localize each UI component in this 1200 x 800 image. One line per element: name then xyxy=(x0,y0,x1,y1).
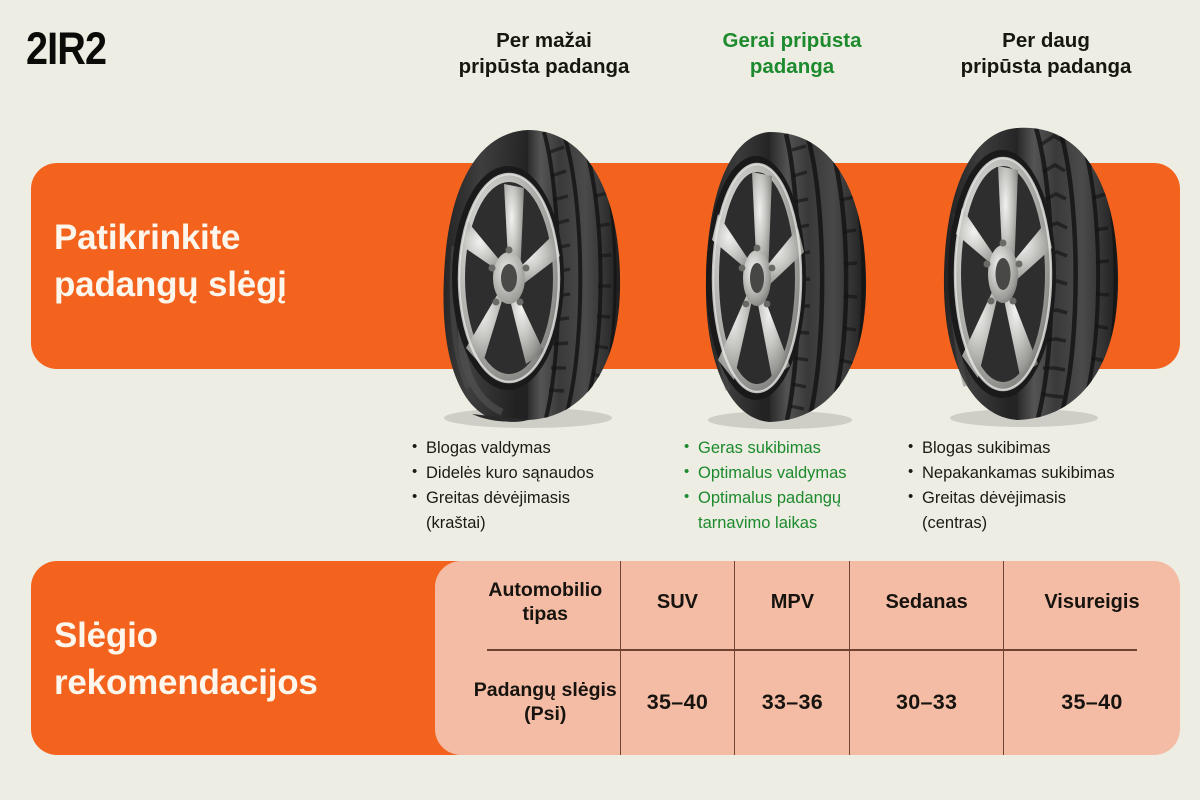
table-header-mpv: MPV xyxy=(735,561,850,649)
list-item: Blogas valdymas xyxy=(412,436,684,461)
list-item: Nepakankamas sukibimas xyxy=(908,461,1200,486)
bullet-list-over-inflated: Blogas sukibimas Nepakankamas sukibimas … xyxy=(908,436,1200,536)
table-value-sedanas: 30–33 xyxy=(850,649,1004,755)
header-line-1: Gerai pripūsta xyxy=(680,28,904,54)
table-header-visureigis: Visureigis xyxy=(1003,561,1180,649)
pressure-table: Automobilio tipas SUV MPV Sedanas Visure… xyxy=(435,561,1180,755)
header-line-1: Per daug xyxy=(904,28,1188,54)
table-row-header: Automobilio tipas SUV MPV Sedanas Visure… xyxy=(435,561,1180,649)
table-header-suv: SUV xyxy=(620,561,735,649)
list-item: Optimalus valdymas xyxy=(684,461,908,486)
column-headers: Per mažai pripūsta padanga Gerai pripūst… xyxy=(408,28,1188,80)
bullet-list-correctly-inflated: Geras sukibimas Optimalus valdymas Optim… xyxy=(684,436,908,536)
list-item: Greitas dėvėjimasis xyxy=(412,486,684,511)
tire-over-inflated-image xyxy=(932,122,1128,428)
table-row-label-tire-pressure: Padangų slėgis (Psi) xyxy=(435,649,620,755)
bullet-list-under-inflated: Blogas valdymas Didelės kuro sąnaudos Gr… xyxy=(412,436,684,536)
header-line-2: pripūsta padanga xyxy=(904,54,1188,80)
header-line-2: pripūsta padanga xyxy=(408,54,680,80)
list-item-continuation: (kraštai) xyxy=(412,511,684,536)
banner-title-line-2: rekomendacijos xyxy=(54,660,424,707)
list-item: Blogas sukibimas xyxy=(908,436,1200,461)
tire-under-inflated-image xyxy=(432,126,628,428)
list-item: Geras sukibimas xyxy=(684,436,908,461)
list-item-continuation: (centras) xyxy=(908,511,1200,536)
banner-title-line-2: padangų slėgį xyxy=(54,262,454,309)
list-item-continuation: tarnavimo laikas xyxy=(684,511,908,536)
table-row-label-vehicle-type: Automobilio tipas xyxy=(435,561,620,649)
table-horizontal-rule xyxy=(487,649,1137,651)
list-item: Optimalus padangų xyxy=(684,486,908,511)
column-header-correct-inflated: Gerai pripūsta padanga xyxy=(680,28,904,80)
banner-title-line-1: Patikrinkite xyxy=(54,215,454,262)
check-pressure-title: Patikrinkite padangų slėgį xyxy=(54,215,454,309)
brand-logo: 2IR2 xyxy=(26,26,106,71)
header-line-2: padanga xyxy=(680,54,904,80)
benefit-lists: Blogas valdymas Didelės kuro sąnaudos Gr… xyxy=(412,436,1200,536)
table-value-mpv: 33–36 xyxy=(735,649,850,755)
table-header-sedanas: Sedanas xyxy=(850,561,1004,649)
banner-title-line-1: Slėgio xyxy=(54,613,424,660)
column-header-over-inflated: Per daug pripūsta padanga xyxy=(904,28,1188,80)
column-header-under-inflated: Per mažai pripūsta padanga xyxy=(408,28,680,80)
table-value-visureigis: 35–40 xyxy=(1003,649,1180,755)
table-value-suv: 35–40 xyxy=(620,649,735,755)
header-line-1: Per mažai xyxy=(408,28,680,54)
pressure-recommendations-title: Slėgio rekomendacijos xyxy=(54,613,424,707)
pressure-table-panel: Automobilio tipas SUV MPV Sedanas Visure… xyxy=(435,561,1180,755)
list-item: Didelės kuro sąnaudos xyxy=(412,461,684,486)
tire-correctly-inflated-image xyxy=(694,128,876,428)
list-item: Greitas dėvėjimasis xyxy=(908,486,1200,511)
table-row-values: Padangų slėgis (Psi) 35–40 33–36 30–33 3… xyxy=(435,649,1180,755)
